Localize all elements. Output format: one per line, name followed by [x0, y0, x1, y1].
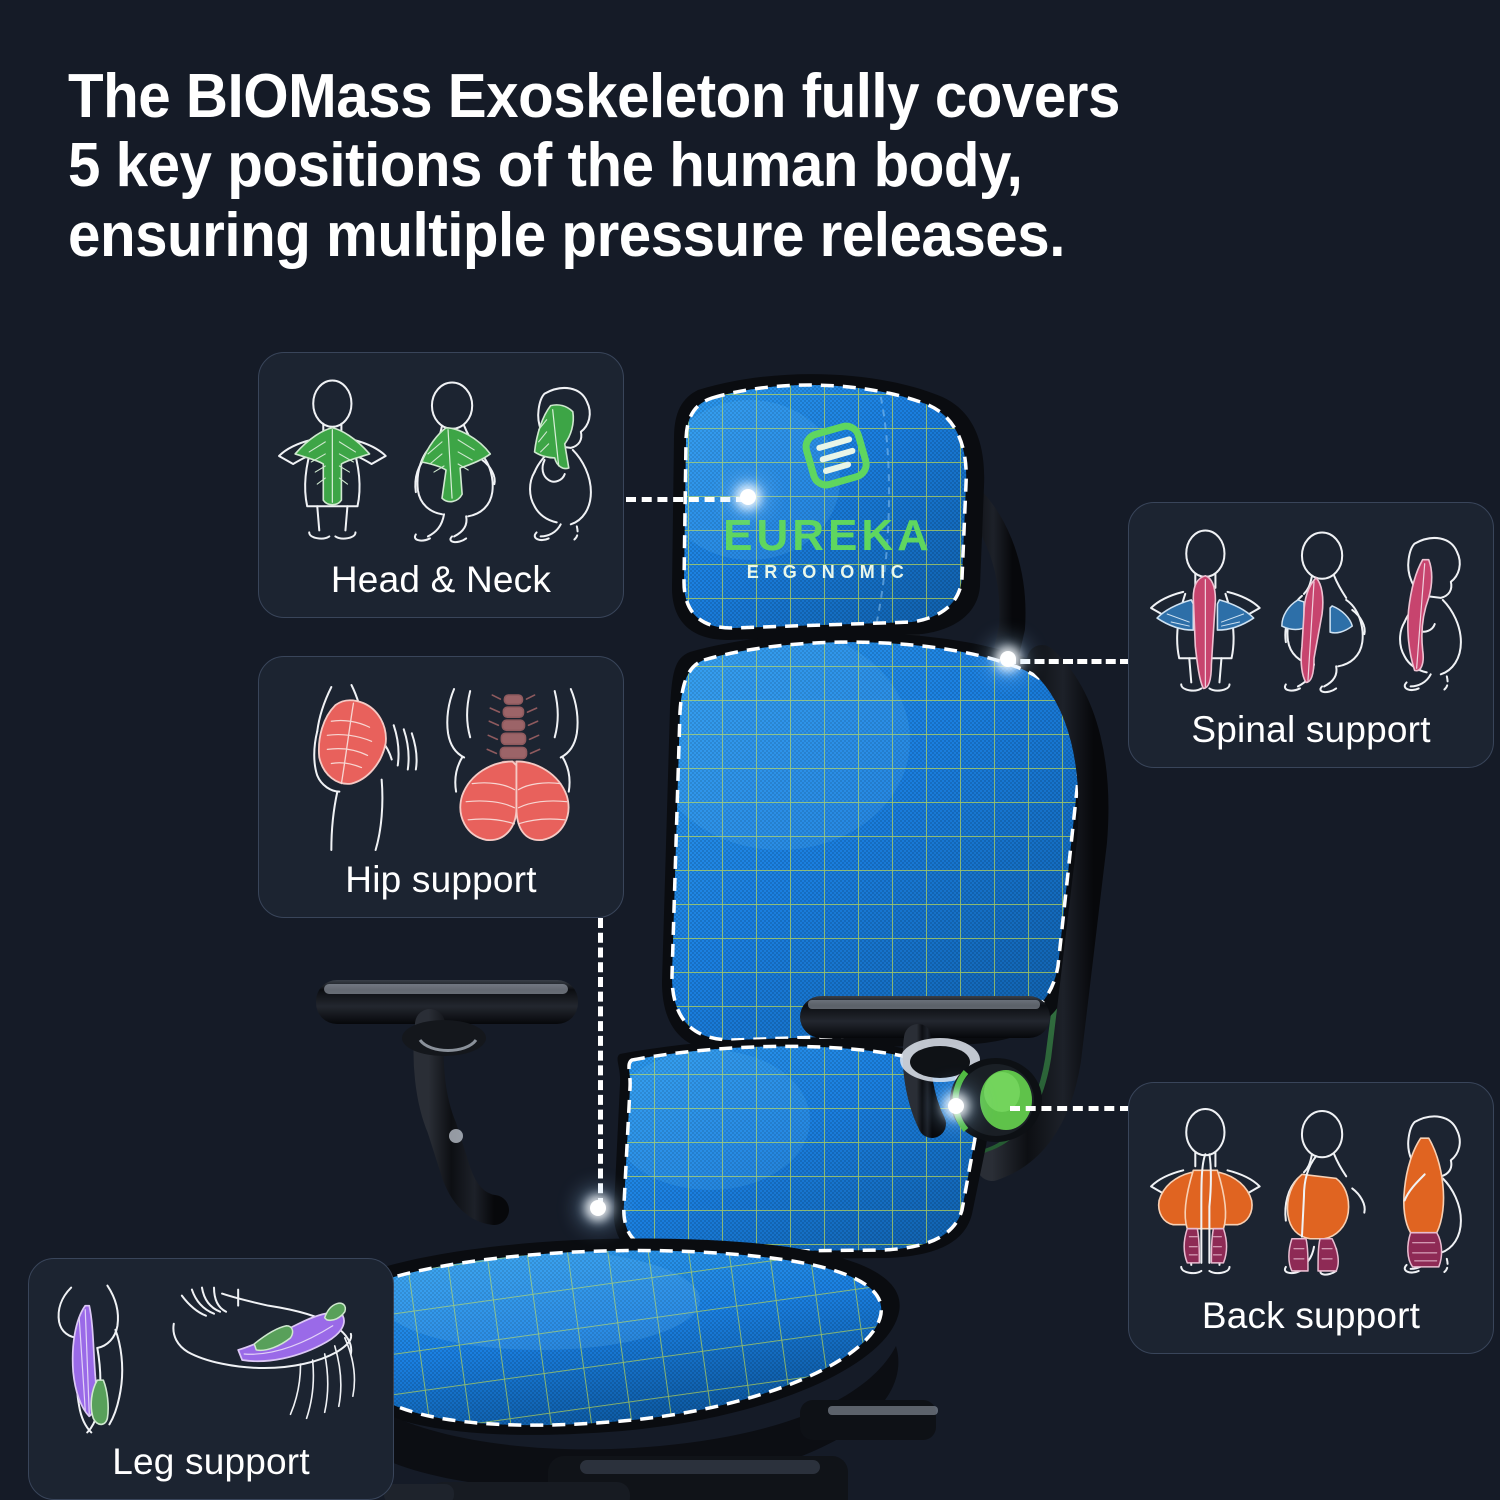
infographic-canvas: The BIOMass Exoskeleton fully covers 5 k… — [0, 0, 1500, 1500]
card-label-hip: Hip support — [345, 859, 536, 907]
connector-spinal — [1006, 659, 1130, 664]
back-support-figures — [1145, 1101, 1477, 1295]
card-hip-support[interactable]: Hip support — [258, 656, 624, 918]
chair-tension-knob[interactable] — [950, 1058, 1042, 1142]
card-back-support[interactable]: Back support — [1128, 1082, 1494, 1354]
connector-dot-headrest — [740, 489, 756, 505]
chair-left-armrest[interactable] — [316, 980, 578, 1210]
chair-backrest — [650, 620, 1110, 1060]
connector-dot-backrest — [1000, 651, 1016, 667]
connector-head-neck — [626, 497, 746, 502]
connector-hip — [598, 918, 603, 1208]
card-spinal-support[interactable]: Spinal support — [1128, 502, 1494, 768]
connector-back — [1010, 1106, 1130, 1111]
leg-support-figures — [45, 1277, 377, 1441]
page-title: The BIOMass Exoskeleton fully covers 5 k… — [68, 62, 1328, 270]
card-leg-support[interactable]: Leg support — [28, 1258, 394, 1500]
brand-subtitle: ERGONOMIC — [747, 562, 910, 582]
chair-headrest: EUREKA ERGONOMIC — [660, 370, 1000, 650]
connector-dot-seat — [590, 1200, 606, 1216]
card-label-back: Back support — [1202, 1295, 1420, 1343]
brand-name: EUREKA — [723, 511, 933, 560]
card-label-head-neck: Head & Neck — [331, 559, 551, 607]
spinal-support-figures — [1145, 521, 1477, 709]
hip-support-figures — [275, 675, 607, 859]
head-neck-figures — [275, 371, 607, 559]
card-head-neck[interactable]: Head & Neck — [258, 352, 624, 618]
card-label-leg: Leg support — [112, 1441, 310, 1489]
card-label-spinal: Spinal support — [1191, 709, 1430, 757]
connector-dot-lumbar — [948, 1098, 964, 1114]
